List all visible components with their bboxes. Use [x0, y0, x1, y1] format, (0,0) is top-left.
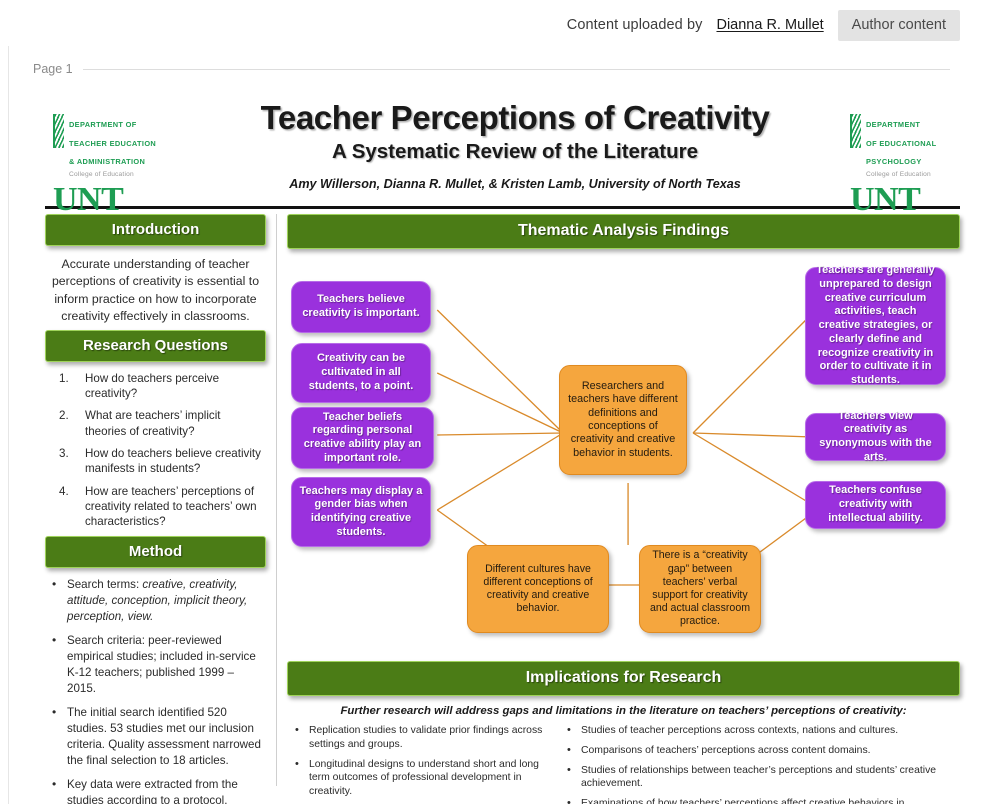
- finding-node-center: Researchers and teachers have different …: [559, 365, 687, 475]
- left-column: Introduction Accurate understanding of t…: [45, 214, 277, 786]
- finding-node-left-1: Teachers believe creativity is important…: [291, 281, 431, 333]
- finding-node-bottom-1: Different cultures have different concep…: [467, 545, 609, 633]
- thematic-analysis-heading: Thematic Analysis Findings: [287, 214, 960, 249]
- author-content-button[interactable]: Author content: [838, 10, 960, 41]
- research-questions-heading: Research Questions: [45, 330, 266, 362]
- header-divider: [45, 206, 960, 209]
- implications-left-list: Replication studies to validate prior fi…: [291, 724, 549, 804]
- page-divider-line: [83, 69, 950, 70]
- implications-right-list: Studies of teacher perceptions across co…: [563, 724, 956, 804]
- page-number-label: Page 1: [33, 62, 73, 76]
- research-questions-list: How do teachers perceive creativity? Wha…: [45, 362, 266, 530]
- list-item: Examinations of how teachers’ perception…: [563, 797, 956, 804]
- list-item: How do teachers believe creativity manif…: [51, 446, 262, 477]
- logo-left-wordmark: UNT: [53, 183, 173, 217]
- poster-header: DEPARTMENT OF TEACHER EDUCATION & ADMINI…: [45, 92, 960, 204]
- list-item: Search criteria: peer-reviewed empirical…: [47, 633, 264, 697]
- finding-node-left-4: Teachers may display a gender bias when …: [291, 477, 431, 547]
- implications-section: Implications for Research Further resear…: [287, 661, 960, 804]
- logo-left-department: DEPARTMENT OF TEACHER EDUCATION & ADMINI…: [69, 120, 156, 166]
- finding-node-right-3: Teachers confuse creativity with intelle…: [805, 481, 946, 529]
- list-item: Studies of teacher perceptions across co…: [563, 724, 956, 738]
- list-item: How are teachers’ perceptions of creativ…: [51, 484, 262, 530]
- poster-subtitle: A Systematic Review of the Literature: [195, 140, 835, 164]
- list-item: The initial search identified 520 studie…: [47, 705, 264, 769]
- unt-teacher-education-logo: DEPARTMENT OF TEACHER EDUCATION & ADMINI…: [53, 114, 173, 217]
- list-item: Comparisons of teachers’ perceptions acr…: [563, 744, 956, 758]
- list-item: Key data were extracted from the studies…: [47, 777, 264, 804]
- implications-heading: Implications for Research: [287, 661, 960, 696]
- introduction-heading: Introduction: [45, 214, 266, 246]
- method-item-text: Search terms: creative, creativity, atti…: [67, 578, 247, 623]
- unt-eagle-feather-icon: [53, 114, 64, 148]
- uploader-profile-link[interactable]: Dianna R. Mullet: [716, 17, 823, 33]
- page-marker-row: Page 1: [0, 58, 988, 80]
- logo-left-college: College of Education: [69, 171, 156, 179]
- poster-title-block: Teacher Perceptions of Creativity A Syst…: [195, 100, 835, 191]
- unt-educational-psychology-logo: DEPARTMENT OF EDUCATIONAL PSYCHOLOGY Col…: [850, 114, 970, 217]
- implications-left-column: Replication studies to validate prior fi…: [291, 724, 549, 804]
- finding-node-left-2: Creativity can be cultivated in all stud…: [291, 343, 431, 403]
- introduction-body: Accurate understanding of teacher percep…: [45, 246, 266, 330]
- poster-title: Teacher Perceptions of Creativity: [195, 100, 835, 136]
- finding-node-right-1: Teachers are generally unprepared to des…: [805, 267, 946, 385]
- finding-node-left-3: Teacher beliefs regarding personal creat…: [291, 407, 434, 469]
- list-item: Studies of relationships between teacher…: [563, 764, 956, 792]
- right-column: Thematic Analysis Findings: [277, 214, 960, 786]
- viewer-left-edge: [8, 46, 9, 804]
- uploaded-by-label: Content uploaded by: [567, 17, 703, 33]
- implications-right-column: Studies of teacher perceptions across co…: [563, 724, 956, 804]
- logo-right-department: DEPARTMENT OF EDUCATIONAL PSYCHOLOGY: [866, 120, 936, 166]
- list-item: How do teachers perceive creativity?: [51, 371, 262, 402]
- list-item: Search terms: creative, creativity, atti…: [47, 577, 264, 625]
- poster-canvas: DEPARTMENT OF TEACHER EDUCATION & ADMINI…: [45, 92, 960, 782]
- logo-right-wordmark: UNT: [850, 183, 970, 217]
- poster-body: Introduction Accurate understanding of t…: [45, 214, 960, 786]
- method-list: Search terms: creative, creativity, atti…: [45, 568, 266, 804]
- poster-authors: Amy Willerson, Dianna R. Mullet, & Krist…: [195, 177, 835, 191]
- thematic-analysis-diagram: Teachers believe creativity is important…: [287, 255, 960, 653]
- finding-node-right-2: Teachers view creativity as synonymous w…: [805, 413, 946, 461]
- logo-right-college: College of Education: [866, 171, 936, 179]
- list-item: Longitudinal designs to understand short…: [291, 758, 549, 799]
- researchgate-topbar: Content uploaded by Dianna R. Mullet Aut…: [0, 0, 988, 50]
- list-item: What are teachers’ implicit theories of …: [51, 408, 262, 439]
- finding-node-bottom-2: There is a “creativity gap” between teac…: [639, 545, 761, 633]
- list-item: Replication studies to validate prior fi…: [291, 724, 549, 752]
- unt-eagle-feather-icon: [850, 114, 861, 148]
- implications-lead-text: Further research will address gaps and l…: [287, 696, 960, 724]
- method-heading: Method: [45, 536, 266, 568]
